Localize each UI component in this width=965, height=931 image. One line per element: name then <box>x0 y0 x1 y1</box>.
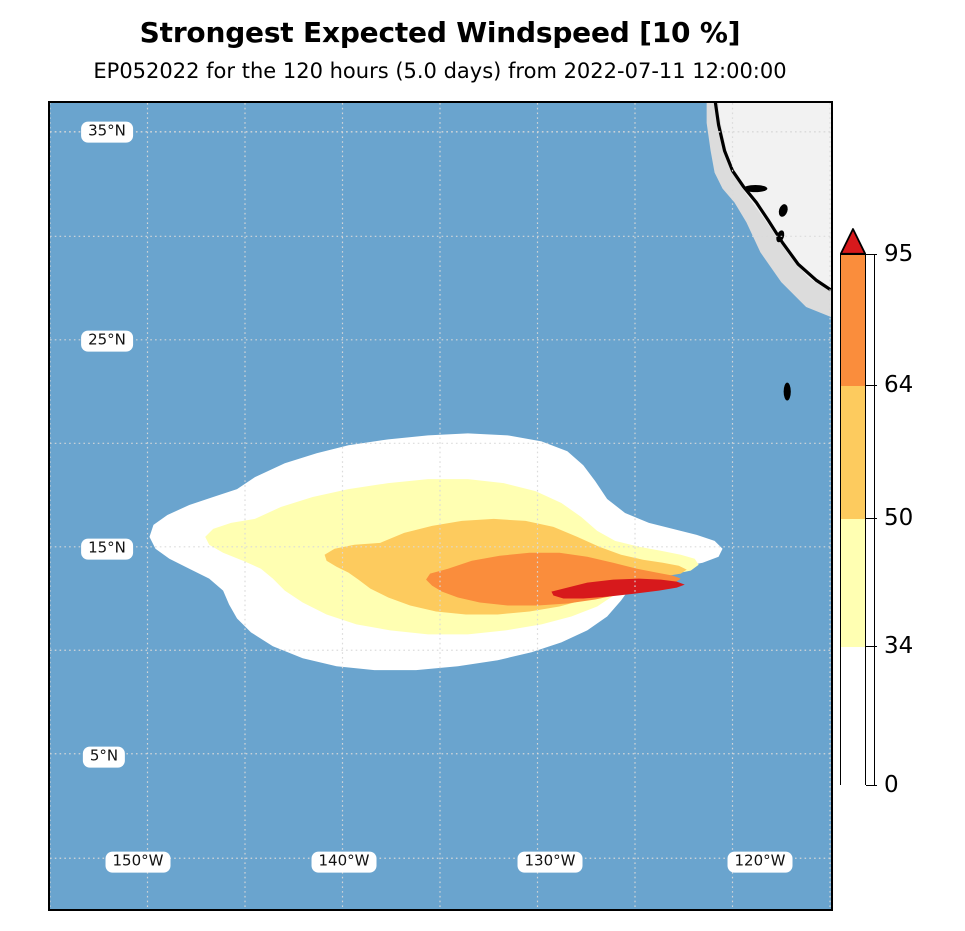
colorbar[interactable] <box>840 254 866 785</box>
gridlabel-lat-15: 15°N <box>81 539 133 560</box>
colorbar-axis-label-wrap: Forecast Wind Speed [kt] <box>884 215 944 775</box>
colorbar-label-50: 50 <box>884 505 913 531</box>
colorbar-tick-64 <box>866 385 877 386</box>
island-santa-cruz <box>743 185 767 192</box>
colorbar-label-34: 34 <box>884 633 913 659</box>
colorbar-segment-34-50 <box>841 519 865 647</box>
gridlabel-lon-150: 150°W <box>106 852 171 873</box>
colorbar-tick-95 <box>866 254 877 255</box>
colorbar-label-64: 64 <box>884 372 913 398</box>
colorbar-segment-0-34 <box>841 647 865 786</box>
gridlabel-lat-35: 35°N <box>81 122 133 143</box>
colorbar-tick-50 <box>866 518 877 519</box>
colorbar-segment-64-95 <box>841 255 865 386</box>
colorbar-segment-50-64 <box>841 386 865 519</box>
colorbar-label-95: 95 <box>884 241 913 267</box>
colorbar-tick-0 <box>866 785 877 786</box>
gridlabel-lon-140: 140°W <box>312 852 377 873</box>
gridlabel-lon-130: 130°W <box>518 852 583 873</box>
forecast-map[interactable]: 35°N 25°N 15°N 5°N 150°W 140°W 130°W 120… <box>48 101 833 911</box>
page-title: Strongest Expected Windspeed [10 %] <box>0 16 880 49</box>
colorbar-tick-34 <box>866 646 877 647</box>
gridlabel-lat-25: 25°N <box>81 331 133 352</box>
colorbar-axis-spine <box>874 254 875 785</box>
colorbar-label-0: 0 <box>884 772 899 798</box>
gridlabel-lat-5: 5°N <box>83 747 125 768</box>
land-mass <box>707 103 831 401</box>
map-canvas <box>50 103 831 909</box>
gridlabel-lon-120: 120°W <box>728 852 793 873</box>
page-subtitle: EP052022 for the 120 hours (5.0 days) fr… <box>0 59 880 83</box>
windspeed-contours <box>149 433 722 670</box>
island-guadalupe <box>784 383 791 401</box>
colorbar-extend-arrow <box>840 228 866 255</box>
